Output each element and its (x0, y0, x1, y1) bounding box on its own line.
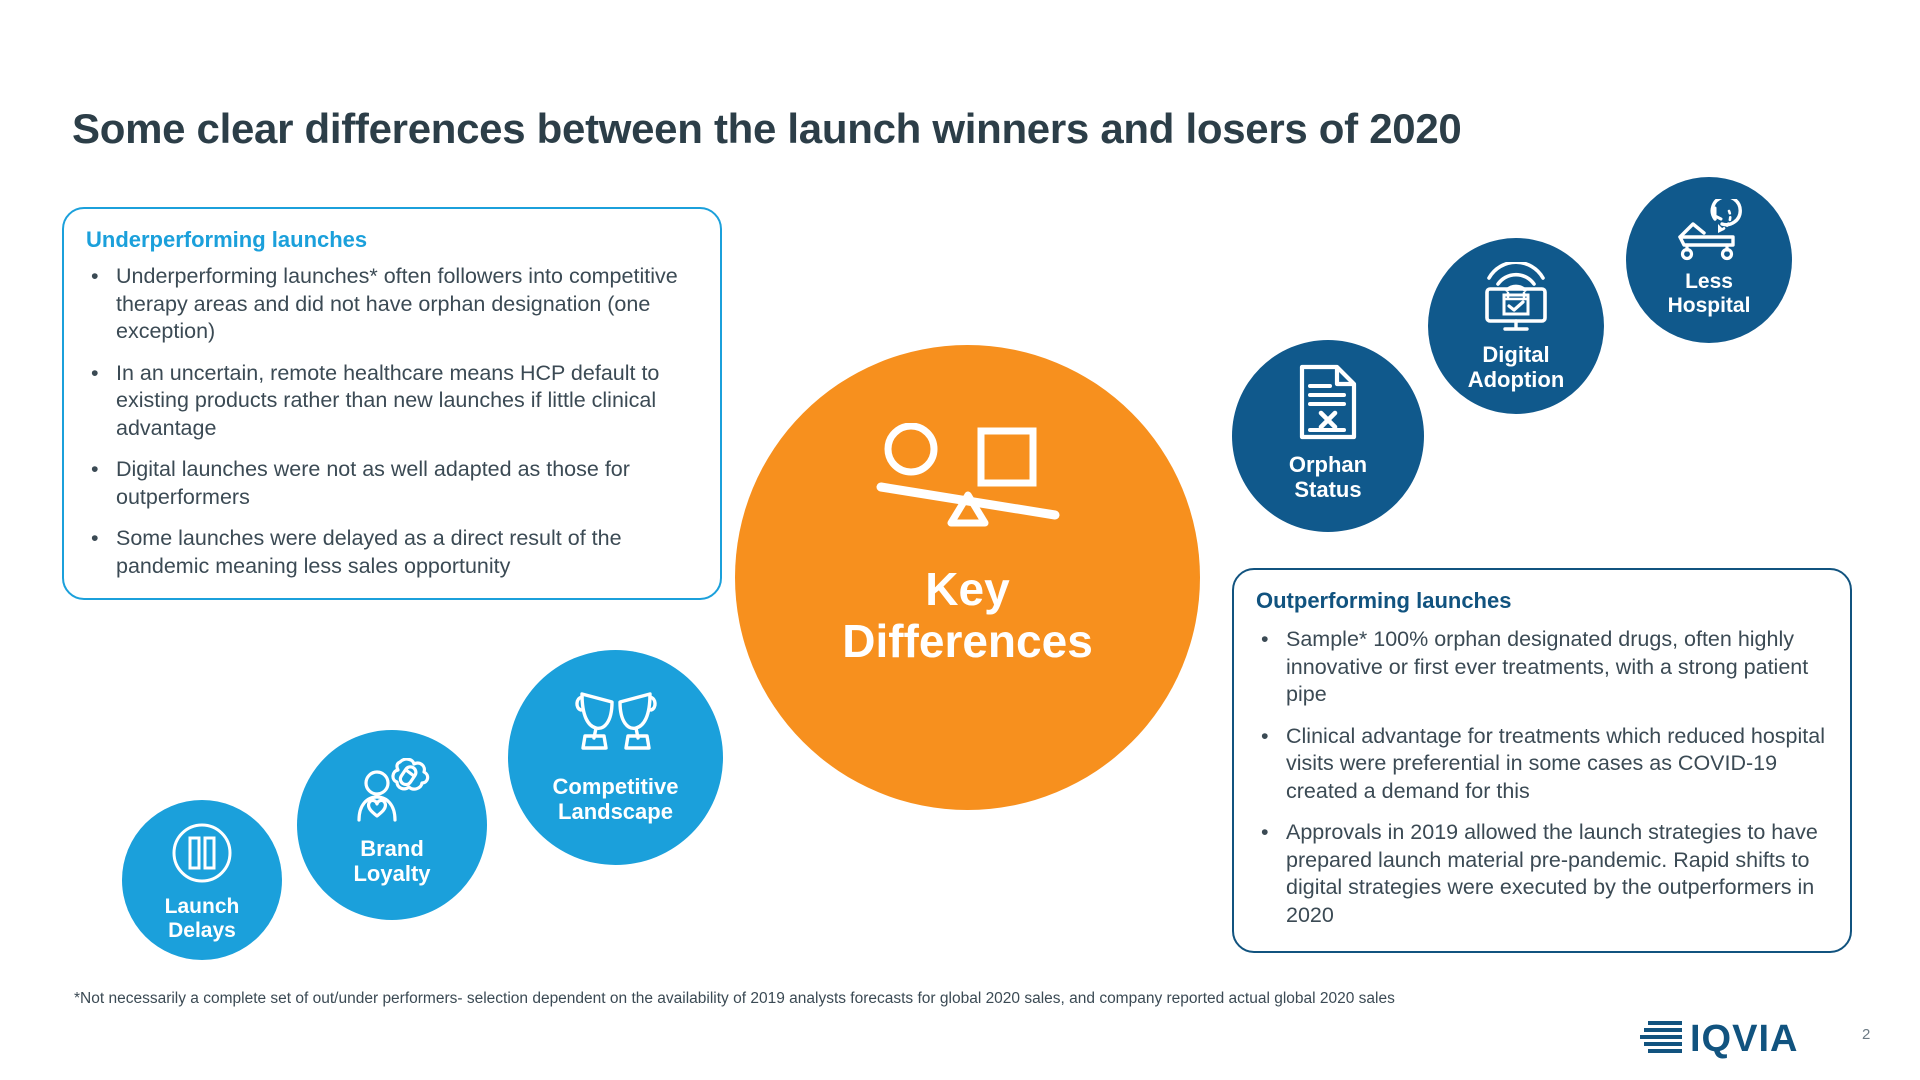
bullet-text: Underperforming launches* often follower… (116, 264, 678, 343)
iqvia-logo: IQVIA (1640, 1018, 1798, 1059)
bullet-dot-icon: • (91, 263, 99, 291)
circle-orphan-status: Orphan Status (1232, 340, 1424, 532)
circle-label: Competitive Landscape (553, 775, 679, 824)
bullet-dot-icon: • (91, 525, 99, 553)
bullet-dot-icon: • (1261, 723, 1269, 751)
circle-digital-adoption: Digital Adoption (1428, 238, 1604, 414)
underperforming-bullet-list: • Underperforming launches* often follow… (82, 263, 706, 580)
list-item: • Underperforming launches* often follow… (82, 263, 706, 346)
bullet-dot-icon: • (91, 456, 99, 484)
pause-circle-icon (171, 822, 233, 889)
bullet-text: In an uncertain, remote healthcare means… (116, 361, 659, 440)
bullet-dot-icon: • (91, 360, 99, 388)
list-item: • Clinical advantage for treatments whic… (1252, 723, 1836, 806)
bullet-dot-icon: • (1261, 819, 1269, 847)
two-trophies-icon (570, 686, 662, 763)
list-item: • Digital launches were not as well adap… (82, 456, 706, 511)
key-differences-label: Key Differences (842, 564, 1093, 667)
bullet-text: Some launches were delayed as a direct r… (116, 526, 622, 578)
key-differences-circle: Key Differences (735, 345, 1200, 810)
outperforming-bullet-list: • Sample* 100% orphan designated drugs, … (1252, 626, 1836, 929)
document-x-icon (1297, 364, 1359, 445)
balance-seesaw-icon (873, 423, 1063, 538)
iqvia-wordmark: IQVIA (1690, 1020, 1798, 1058)
circle-launch-delays: Launch Delays (122, 800, 282, 960)
circle-label: Orphan Status (1289, 453, 1367, 502)
bullet-text: Clinical advantage for treatments which … (1286, 724, 1825, 803)
outperforming-launches-box: Outperforming launches • Sample* 100% or… (1232, 568, 1852, 953)
circle-label: Brand Loyalty (353, 837, 430, 886)
underperforming-launches-box: Underperforming launches • Underperformi… (62, 207, 722, 600)
circle-less-hospital: Less Hospital (1626, 177, 1792, 343)
underperforming-box-heading: Underperforming launches (86, 227, 367, 253)
circle-competitive-landscape: Competitive Landscape (508, 650, 723, 865)
bullet-dot-icon: • (1261, 626, 1269, 654)
bullet-text: Approvals in 2019 allowed the launch str… (1286, 820, 1818, 927)
hospital-bed-clock-icon (1674, 199, 1744, 266)
list-item: • In an uncertain, remote healthcare mea… (82, 360, 706, 443)
bullet-text: Sample* 100% orphan designated drugs, of… (1286, 627, 1808, 706)
circle-label: Launch Delays (165, 895, 240, 942)
circle-brand-loyalty: Brand Loyalty (297, 730, 487, 920)
slide-canvas: Some clear differences between the launc… (0, 0, 1920, 1080)
bullet-text: Digital launches were not as well adapte… (116, 457, 630, 509)
footnote: *Not necessarily a complete set of out/u… (74, 990, 1395, 1008)
circle-label: Less Hospital (1668, 270, 1751, 317)
outperforming-box-heading: Outperforming launches (1256, 588, 1511, 614)
page-number: 2 (1862, 1026, 1870, 1043)
iqvia-bars-icon (1640, 1018, 1684, 1059)
monitor-wifi-check-icon (1479, 262, 1553, 337)
circle-label: Digital Adoption (1468, 343, 1565, 392)
list-item: • Approvals in 2019 allowed the launch s… (1252, 819, 1836, 929)
person-heart-pill-icon (352, 758, 432, 829)
page-title: Some clear differences between the launc… (72, 105, 1461, 153)
list-item: • Some launches were delayed as a direct… (82, 525, 706, 580)
list-item: • Sample* 100% orphan designated drugs, … (1252, 626, 1836, 709)
